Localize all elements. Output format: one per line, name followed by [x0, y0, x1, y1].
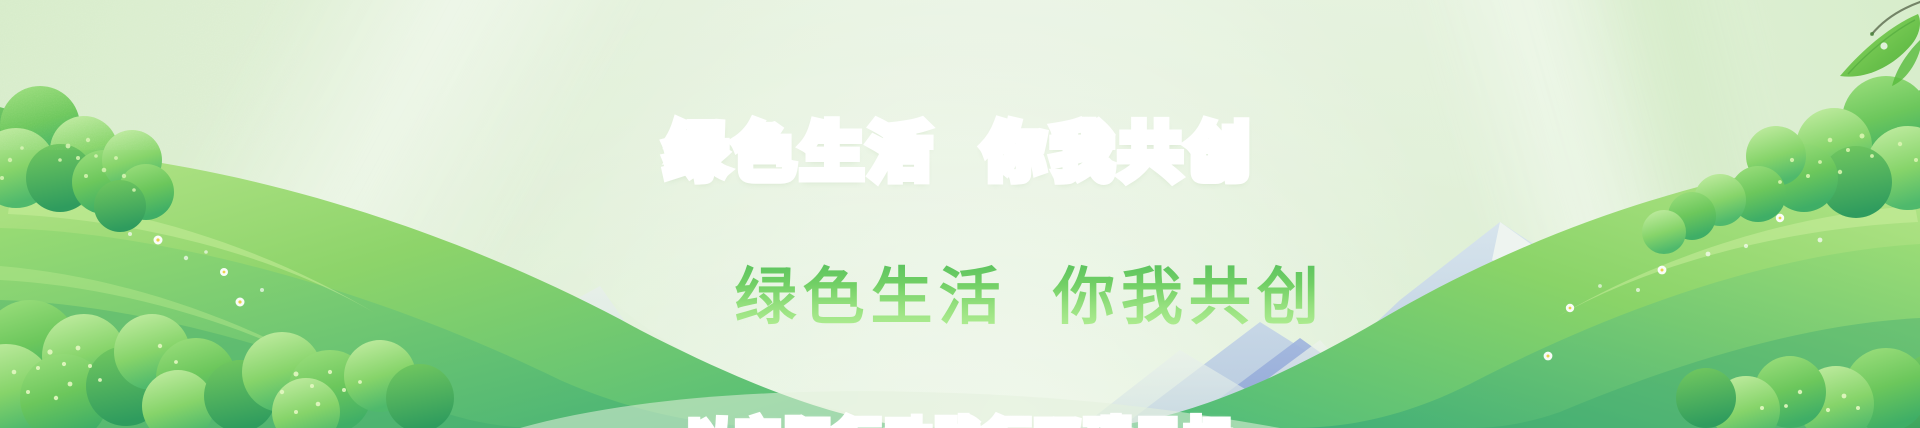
banner-title-text: 绿色生活 你我共创: [734, 263, 1324, 332]
headline-block: 绿色生活 你我共创 绿色生活 你我共创 以实际行动践行双碳目标 以实际行动践行双…: [0, 118, 1920, 428]
eco-banner: 绿色生活 你我共创 绿色生活 你我共创 以实际行动践行双碳目标 以实际行动践行双…: [0, 0, 1920, 428]
banner-subtitle-outline: 以实际行动践行双碳目标: [0, 412, 1920, 428]
banner-title-outline: 绿色生活 你我共创: [0, 118, 1920, 190]
leaf-sprig-icon: [1840, 2, 1920, 86]
banner-title: 绿色生活 你我共创 绿色生活 你我共创: [0, 118, 1920, 406]
banner-subtitle: 以实际行动践行双碳目标 以实际行动践行双碳目标: [0, 412, 1920, 428]
